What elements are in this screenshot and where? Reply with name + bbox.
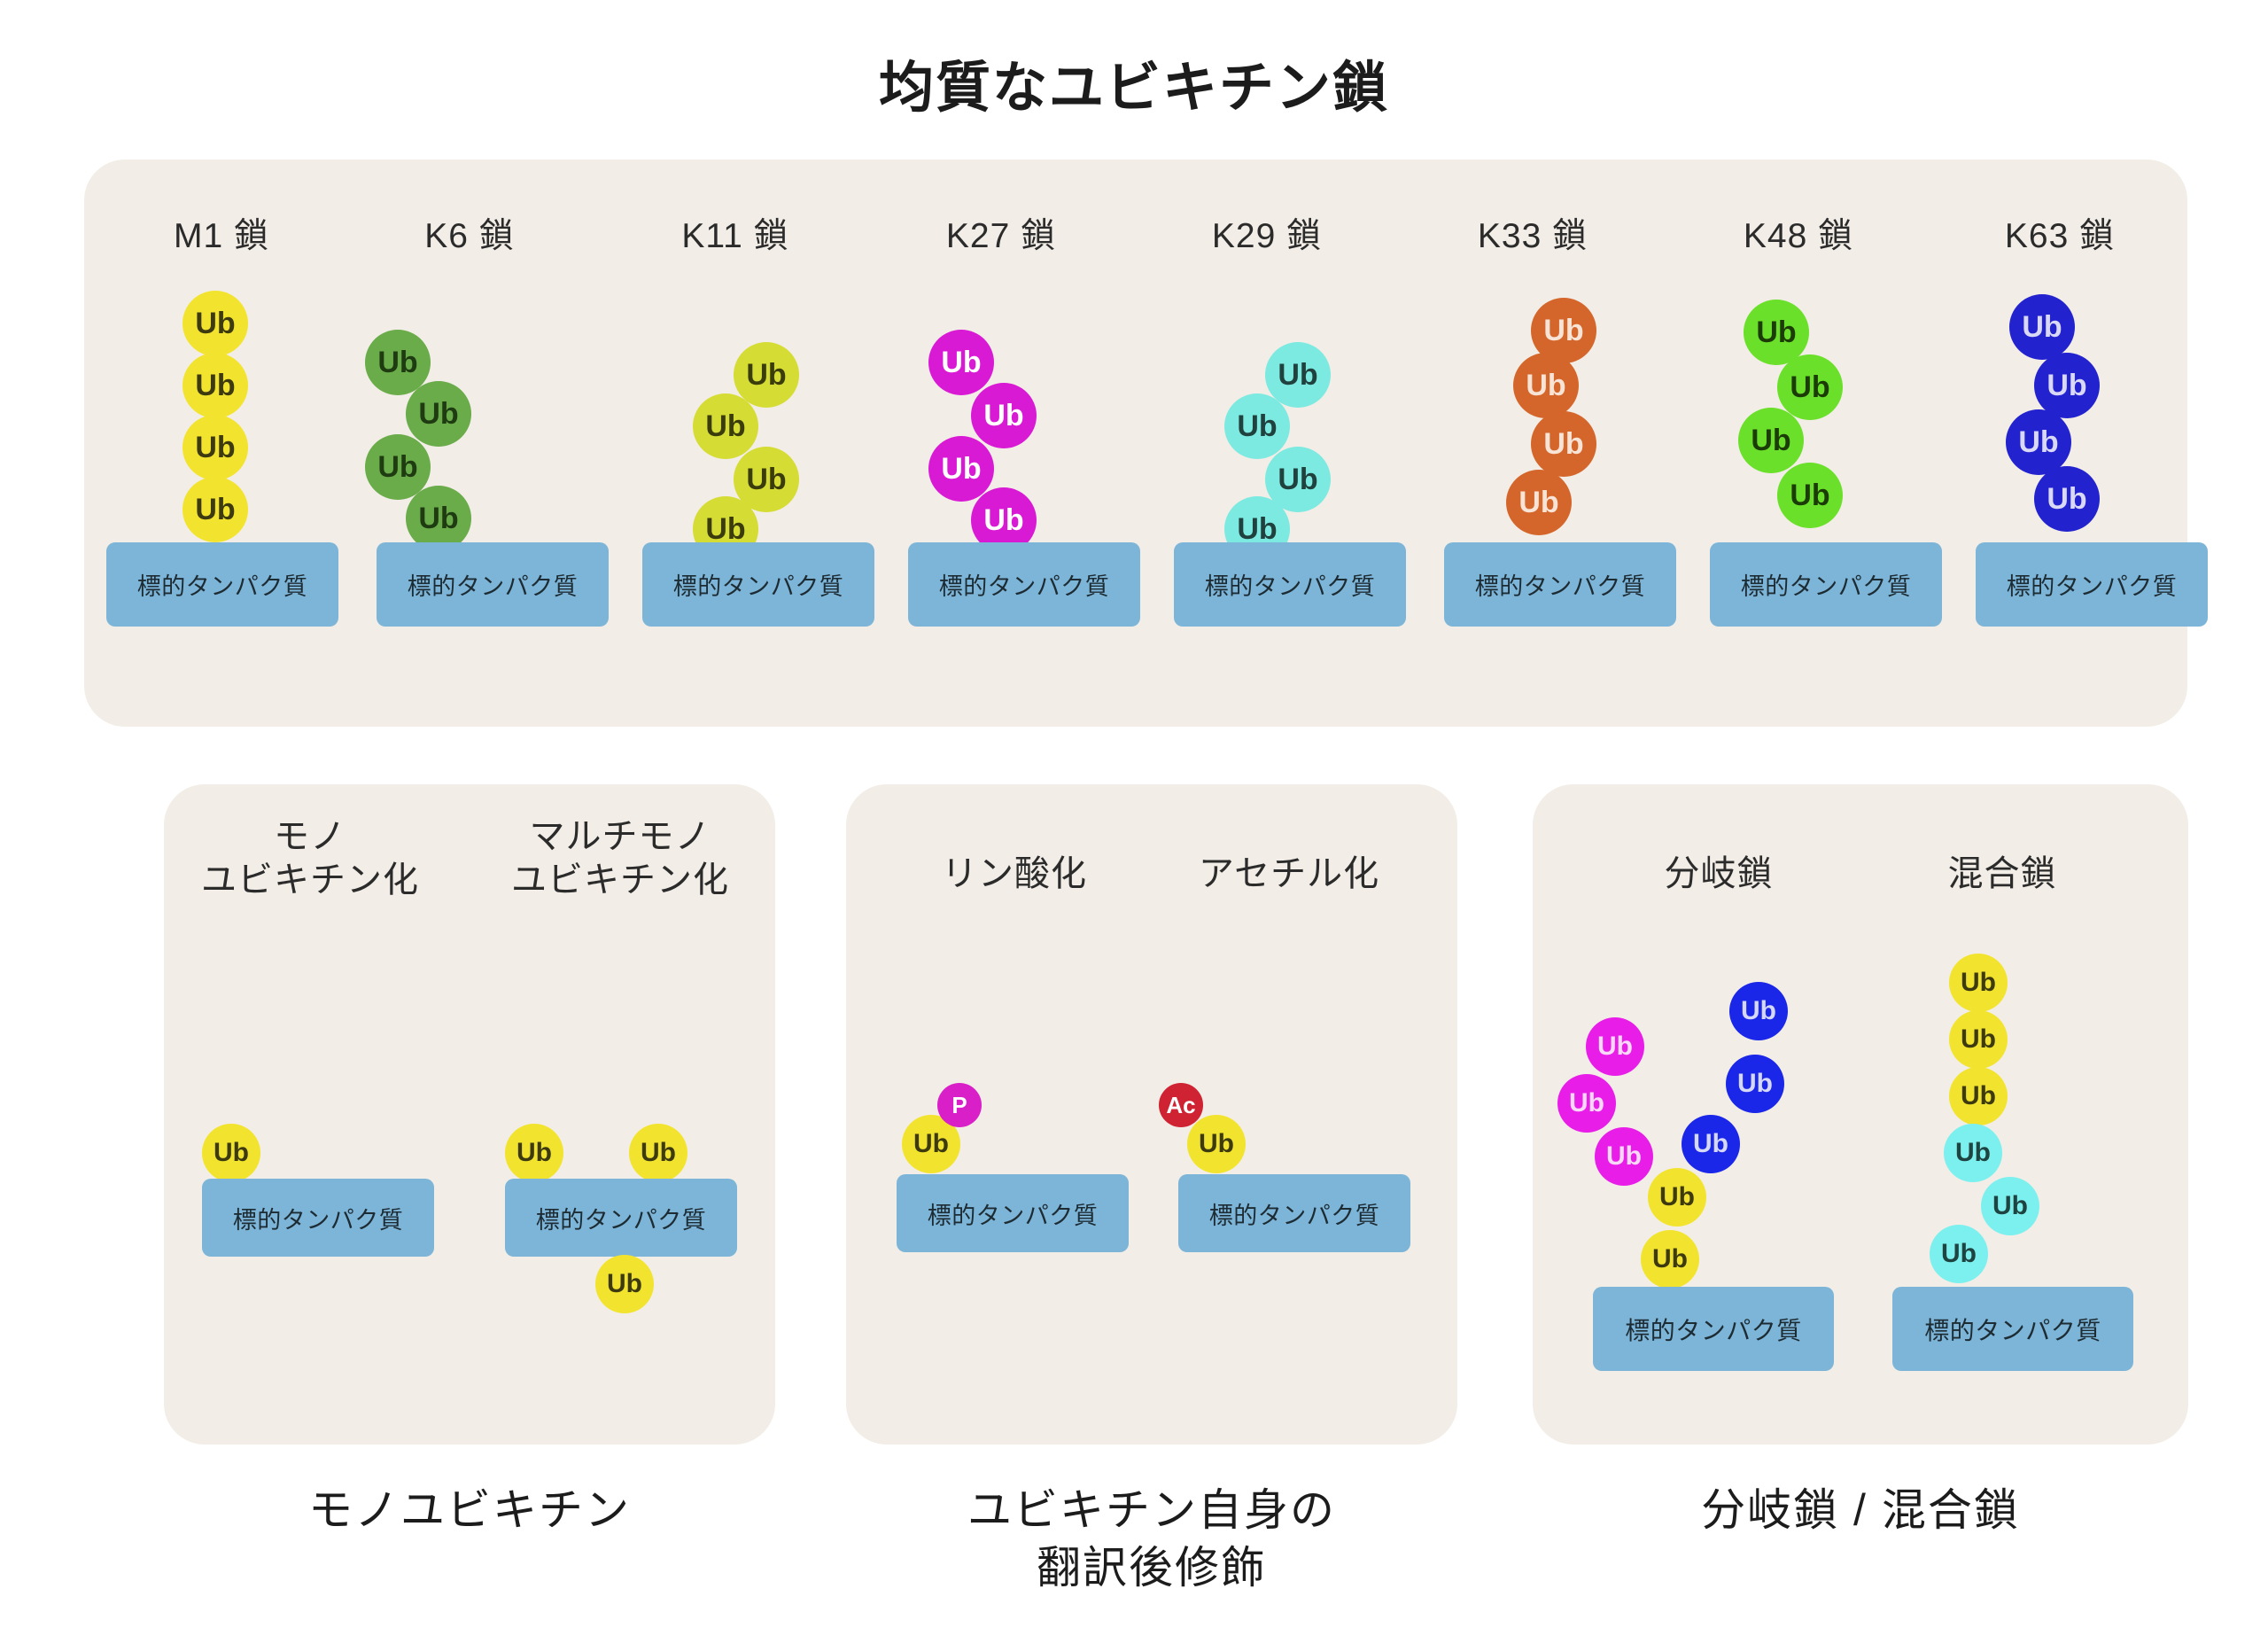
ub-circle: Ub	[505, 1124, 563, 1182]
ub-circle: Ub	[928, 330, 994, 395]
ub-circle: Ub	[406, 381, 471, 447]
target-protein-box: 標的タンパク質	[202, 1179, 434, 1257]
group-label-mono-ubiquitination: モノ ユビキチン化	[177, 815, 443, 902]
ub-circle: Ub	[2006, 409, 2071, 475]
target-protein-box: 標的タンパク質	[642, 542, 874, 627]
ub-circle: Ub	[1930, 1225, 1988, 1283]
chain-label-k6: K6 鎖	[354, 208, 585, 258]
ub-circle: Ub	[595, 1255, 654, 1313]
chain-label-k27: K27 鎖	[886, 208, 1116, 258]
ub-circle: Ub	[202, 1124, 260, 1182]
target-protein-box: 標的タンパク質	[377, 542, 609, 627]
ub-circle: Ub	[1944, 1124, 2002, 1182]
ub-circle: Ub	[1557, 1074, 1616, 1133]
ub-circle: Ub	[734, 342, 799, 408]
ub-circle: Ub	[1726, 1055, 1784, 1113]
ub-circle: Ub	[1949, 1010, 2008, 1069]
caption-ubiquitin-ptm: ユビキチン自身の 翻訳後修飾	[833, 1482, 1471, 1597]
caption-branched-mixed-chain: 分岐鎖 / 混合鎖	[1533, 1482, 2188, 1539]
ub-circle: Ub	[1729, 982, 1788, 1040]
target-protein-box: 標的タンパク質	[1593, 1287, 1834, 1371]
page-title: 均質なユビキチン鎖	[0, 43, 2268, 122]
group-label-acetylation: アセチル化	[1169, 853, 1409, 896]
target-protein-box: 標的タンパク質	[1174, 542, 1406, 627]
ub-circle: Ub	[1641, 1230, 1699, 1289]
ub-circle: Ub	[183, 477, 248, 542]
target-protein-box: 標的タンパク質	[505, 1179, 737, 1257]
ub-circle: Ub	[183, 353, 248, 418]
ub-circle: Ub	[1531, 411, 1596, 477]
ub-circle: Ub	[1187, 1115, 1246, 1173]
ub-circle: Ub	[1506, 470, 1572, 535]
target-protein-box: 標的タンパク質	[1710, 542, 1942, 627]
target-protein-box: 標的タンパク質	[897, 1174, 1129, 1252]
chain-label-k11: K11 鎖	[620, 208, 850, 258]
chain-label-m1: M1 鎖	[106, 208, 337, 258]
target-protein-box: 標的タンパク質	[908, 542, 1140, 627]
ub-circle: Ub	[1513, 353, 1579, 418]
chain-label-k48: K48 鎖	[1683, 208, 1914, 258]
ub-circle: Ub	[183, 415, 248, 480]
ub-circle: Ub	[1586, 1017, 1644, 1076]
ub-circle: Ub	[1682, 1115, 1740, 1173]
group-label-phosphorylation: リン酸化	[895, 853, 1134, 896]
chain-label-k29: K29 鎖	[1152, 208, 1382, 258]
ub-circle: Ub	[1949, 954, 2008, 1012]
ub-circle: Ub	[1648, 1168, 1706, 1227]
ub-circle: Ub	[1595, 1127, 1653, 1186]
ub-circle: Ub	[2034, 353, 2100, 418]
chain-label-k63: K63 鎖	[1945, 208, 2175, 258]
ub-circle: Ub	[1224, 393, 1290, 459]
ub-circle: Ub	[693, 393, 758, 459]
ub-circle: Ub	[1777, 463, 1843, 528]
phospho-badge-icon: P	[937, 1083, 982, 1127]
target-protein-box: 標的タンパク質	[106, 542, 338, 627]
ub-circle: Ub	[629, 1124, 687, 1182]
group-label-multi-mono-ubiquitination: マルチモノ ユビキチン化	[483, 815, 757, 902]
ub-circle: Ub	[1981, 1177, 2039, 1235]
target-protein-box: 標的タンパク質	[1178, 1174, 1410, 1252]
target-protein-box: 標的タンパク質	[1892, 1287, 2133, 1371]
ub-circle: Ub	[183, 291, 248, 356]
ub-circle: Ub	[1949, 1067, 2008, 1125]
ub-circle: Ub	[2034, 466, 2100, 532]
group-label-mixed-chain: 混合鎖	[1887, 853, 2117, 896]
ub-circle: Ub	[1738, 408, 1804, 473]
ub-circle: Ub	[406, 486, 471, 551]
ub-circle: Ub	[1777, 354, 1843, 420]
ub-circle: Ub	[1265, 342, 1331, 408]
caption-mono-ubiquitin: モノユビキチン	[155, 1482, 784, 1539]
ub-circle: Ub	[2009, 294, 2075, 360]
acetyl-badge-icon: Ac	[1159, 1083, 1203, 1127]
target-protein-box: 標的タンパク質	[1444, 542, 1676, 627]
ub-circle: Ub	[971, 383, 1037, 448]
group-label-branched-chain: 分岐鎖	[1604, 853, 1834, 896]
ub-circle: Ub	[928, 436, 994, 502]
target-protein-box: 標的タンパク質	[1976, 542, 2208, 627]
chain-label-k33: K33 鎖	[1417, 208, 1648, 258]
